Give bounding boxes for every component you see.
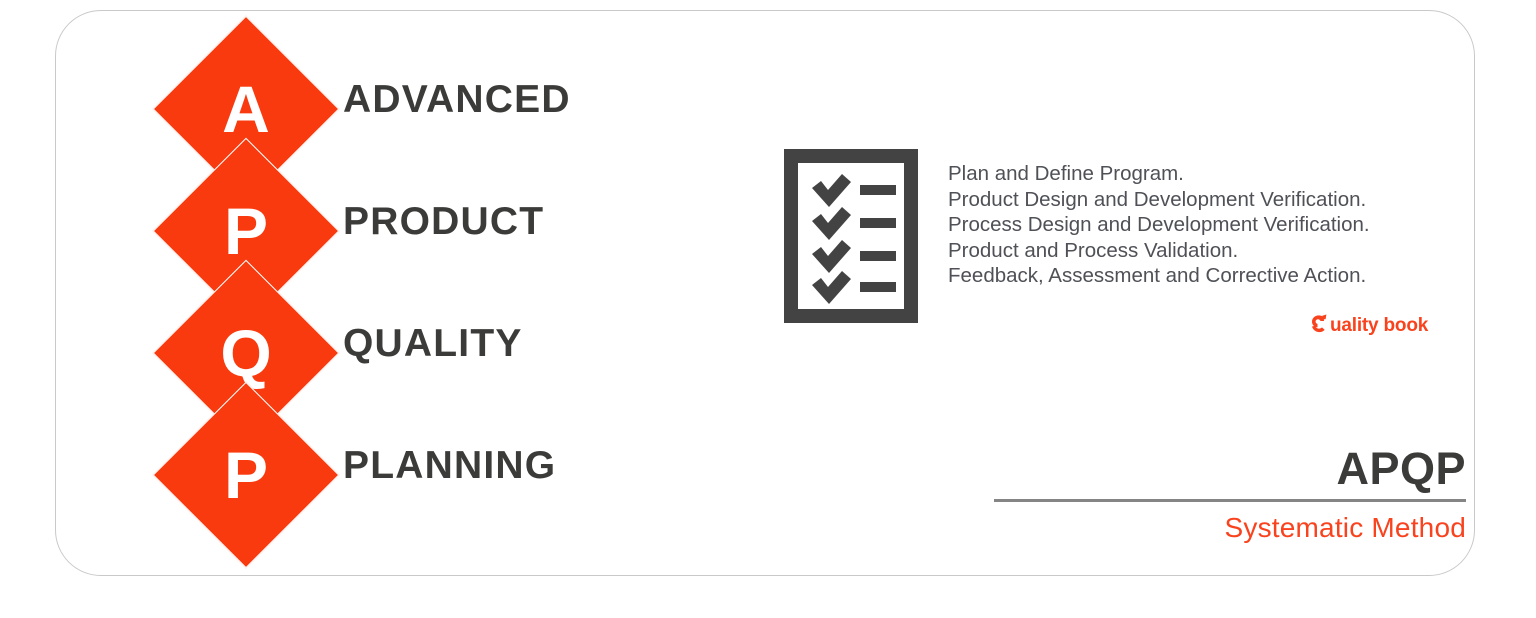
step-line-3: Process Design and Development Verificat…	[948, 212, 1478, 238]
brand-name-label: uality book	[1330, 316, 1428, 335]
phase-row-planning[interactable]: P PLANNING	[153, 391, 453, 577]
title-block: APQP Systematic Method	[994, 443, 1466, 545]
step-line-2: Product Design and Development Verificat…	[948, 187, 1478, 213]
apqp-steps-list: Plan and Define Program. Product Design …	[948, 161, 1478, 289]
quality-book-q-mark-icon	[1309, 314, 1329, 336]
phase-label-planning: PLANNING	[343, 446, 556, 485]
apqp-phase-stack: A ADVANCED P PRODUCT Q QUALITY P PLANNIN…	[153, 25, 453, 575]
step-line-1: Plan and Define Program.	[948, 161, 1478, 187]
brand-logo[interactable]: uality book	[1309, 312, 1428, 338]
phase-label-advanced: ADVANCED	[343, 80, 571, 119]
infographic-canvas: A ADVANCED P PRODUCT Q QUALITY P PLANNIN…	[0, 0, 1536, 618]
step-line-5: Feedback, Assessment and Corrective Acti…	[948, 263, 1478, 289]
infographic-card: A ADVANCED P PRODUCT Q QUALITY P PLANNIN…	[55, 10, 1475, 576]
checklist-block: Plan and Define Program. Product Design …	[784, 149, 1484, 339]
step-line-4: Product and Process Validation.	[948, 238, 1478, 264]
diamond-letter-planning: P	[180, 409, 312, 541]
checklist-document-icon	[784, 149, 918, 323]
title-divider	[994, 499, 1466, 502]
phase-label-quality: QUALITY	[343, 324, 523, 363]
phase-label-product: PRODUCT	[343, 202, 544, 241]
page-subtitle: Systematic Method	[994, 511, 1466, 545]
page-title: APQP	[994, 443, 1466, 495]
